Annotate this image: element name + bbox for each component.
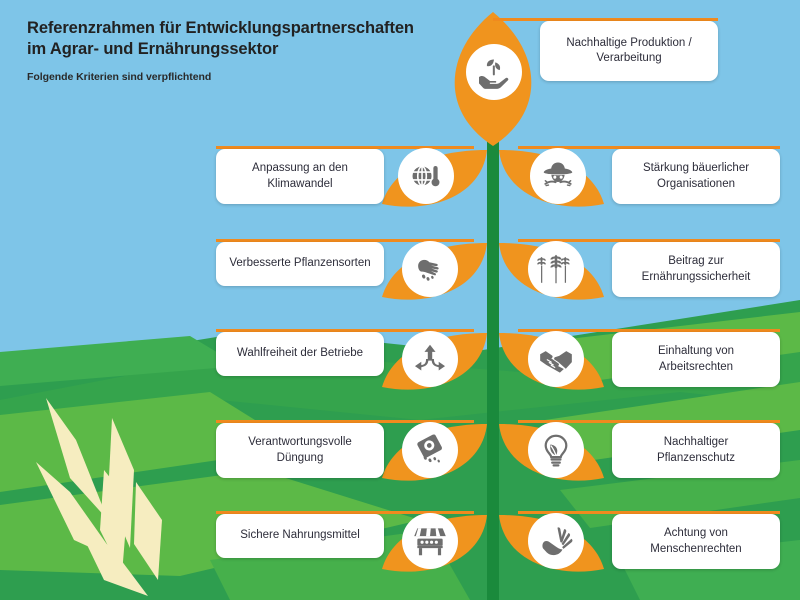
infographic-canvas: Referenzrahmen für Entwicklungspartnersc…	[0, 0, 800, 600]
icon-three-way-arrows[interactable]	[402, 331, 458, 387]
card-right-3-label-2: Arbeitsrechten	[658, 360, 734, 376]
card-top-label-1: Nachhaltige Produktion /	[566, 36, 691, 52]
card-left-3[interactable]: Wahlfreiheit der Betriebe	[216, 332, 384, 376]
card-right-5-label-2: Menschenrechten	[650, 542, 741, 558]
card-left-3-label-1: Wahlfreiheit der Betriebe	[237, 346, 363, 362]
icon-lightbulb-leaf[interactable]	[528, 422, 584, 478]
icon-fertilizer-bag[interactable]	[402, 422, 458, 478]
card-right-2-label-1: Beitrag zur	[642, 254, 751, 270]
card-left-2-label-1: Verbesserte Pflanzensorten	[229, 256, 370, 272]
icon-hand-seeds[interactable]	[402, 241, 458, 297]
card-right-1-label-1: Stärkung bäuerlicher	[643, 161, 749, 177]
card-right-2-label-2: Ernährungssicherheit	[642, 270, 751, 286]
card-right-5[interactable]: Achtung von Menschenrechten	[612, 514, 780, 569]
card-right-2[interactable]: Beitrag zur Ernährungssicherheit	[612, 242, 780, 297]
card-right-5-label-1: Achtung von	[650, 526, 741, 542]
icon-hand-dove[interactable]	[528, 513, 584, 569]
card-left-5-label-1: Sichere Nahrungsmittel	[240, 528, 360, 544]
plant-graphic	[0, 0, 800, 600]
card-right-4-label-2: Pflanzenschutz	[657, 451, 735, 467]
card-left-1-label-2: Klimawandel	[252, 177, 348, 193]
card-left-1[interactable]: Anpassung an den Klimawandel	[216, 149, 384, 204]
icon-wheat-stalks[interactable]	[528, 241, 584, 297]
card-left-2[interactable]: Verbesserte Pflanzensorten	[216, 242, 384, 286]
icon-globe-thermometer[interactable]	[398, 148, 454, 204]
icon-hand-sprout[interactable]	[466, 44, 522, 100]
card-right-1[interactable]: Stärkung bäuerlicher Organisationen	[612, 149, 780, 204]
title-line-2: im Agrar- und Ernährungssektor	[27, 39, 447, 60]
icon-market-stall[interactable]	[402, 513, 458, 569]
card-top-node[interactable]: Nachhaltige Produktion / Verarbeitung	[540, 21, 718, 81]
icon-handshake[interactable]	[528, 331, 584, 387]
card-left-4[interactable]: Verantwortungsvolle Düngung	[216, 423, 384, 478]
page-subtitle: Folgende Kriterien sind verpflichtend	[27, 71, 447, 83]
card-right-3[interactable]: Einhaltung von Arbeitsrechten	[612, 332, 780, 387]
card-right-3-label-1: Einhaltung von	[658, 344, 734, 360]
card-right-1-label-2: Organisationen	[643, 177, 749, 193]
card-right-4-label-1: Nachhaltiger	[657, 435, 735, 451]
card-left-4-label-1: Verantwortungsvolle	[248, 435, 352, 451]
page-title: Referenzrahmen für Entwicklungspartnersc…	[27, 18, 447, 83]
card-top-label-2: Verarbeitung	[566, 51, 691, 67]
card-right-4[interactable]: Nachhaltiger Pflanzenschutz	[612, 423, 780, 478]
card-left-4-label-2: Düngung	[248, 451, 352, 467]
icon-farmer-hat[interactable]	[530, 148, 586, 204]
card-left-5[interactable]: Sichere Nahrungsmittel	[216, 514, 384, 558]
card-left-1-label-1: Anpassung an den	[252, 161, 348, 177]
title-line-1: Referenzrahmen für Entwicklungspartnersc…	[27, 18, 447, 39]
plant-stem	[487, 110, 499, 600]
